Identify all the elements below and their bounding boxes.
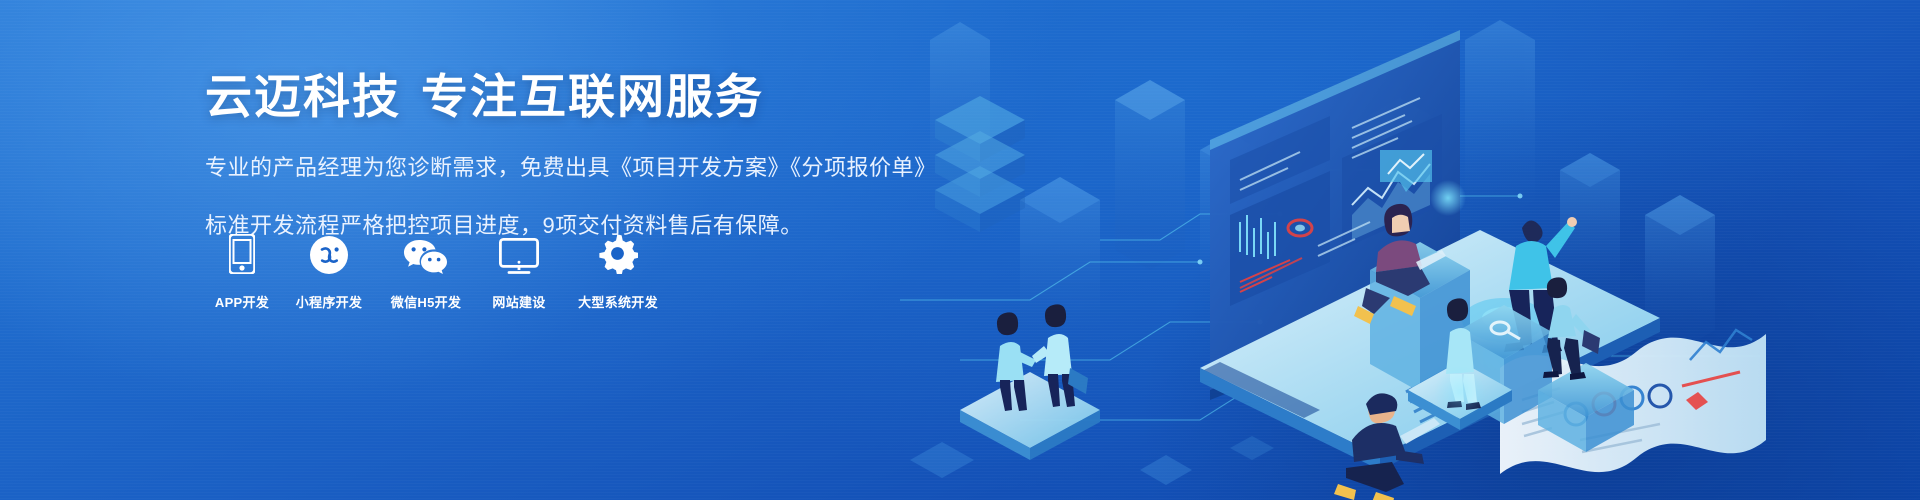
service-label: 微信H5开发: [391, 292, 461, 311]
monitor-icon: [499, 232, 539, 274]
gear-icon: [598, 232, 638, 274]
service-item-wechat-h5[interactable]: 微信H5开发: [377, 232, 475, 311]
service-item-app[interactable]: APP开发: [203, 232, 281, 311]
service-item-website[interactable]: 网站建设: [475, 232, 563, 311]
service-label: APP开发: [215, 292, 269, 311]
subtitle-line-1: 专业的产品经理为您诊断需求，免费出具《项目开发方案》《分项报价单》: [205, 150, 925, 186]
service-list: APP开发 小程序开发: [203, 232, 673, 311]
isometric-technology-illustration: [900, 0, 1920, 500]
mobile-phone-icon: [229, 232, 255, 274]
hero-banner: 云迈科技专注互联网服务 专业的产品经理为您诊断需求，免费出具《项目开发方案》《分…: [0, 0, 1920, 500]
service-label: 小程序开发: [296, 292, 363, 311]
service-label: 网站建设: [492, 292, 545, 311]
foreground-diamonds: [910, 436, 1274, 485]
service-label: 大型系统开发: [578, 292, 658, 311]
page-title: 云迈科技专注互联网服务: [205, 66, 925, 128]
service-item-mini-program[interactable]: 小程序开发: [281, 232, 377, 311]
server-stack: [935, 96, 1025, 232]
service-item-large-system[interactable]: 大型系统开发: [563, 232, 673, 311]
wechat-icon: [404, 232, 448, 274]
mini-program-icon: [310, 232, 348, 274]
headline-brand: 云迈科技: [205, 70, 401, 123]
headline-tagline: 专注互联网服务: [421, 70, 764, 123]
